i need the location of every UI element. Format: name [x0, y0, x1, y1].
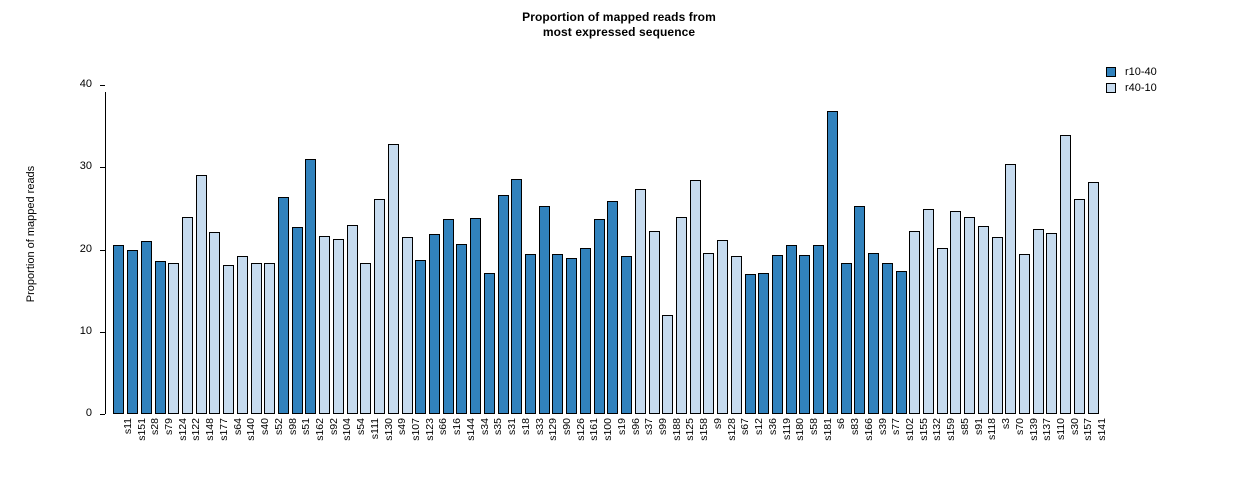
bar-genus-label: Bacteroides	[155, 357, 156, 407]
x-axis-label-s155: s155	[919, 418, 929, 441]
y-axis-tick	[100, 85, 105, 86]
bar-s28[interactable]: Bacteroides	[141, 241, 152, 414]
x-axis-label-s28: s28	[150, 418, 160, 435]
x-axis-label-s35: s35	[493, 418, 503, 435]
x-axis-label-s162: s162	[315, 418, 325, 441]
x-axis-label-s157: s157	[1083, 418, 1093, 441]
bar-s151[interactable]: Bacteroides	[127, 250, 138, 414]
x-axis-label-s119: s119	[782, 418, 792, 440]
legend-swatch-icon	[1106, 67, 1116, 77]
bar-genus-label: Bacteroides	[278, 357, 279, 407]
x-axis-label-s123: s123	[425, 418, 435, 441]
x-axis-label-s139: s139	[1029, 418, 1039, 441]
bar-s40[interactable]: Bacteroides	[251, 263, 262, 414]
x-axis-label-s161: s161	[589, 418, 599, 441]
x-axis-label-s39: s39	[878, 418, 888, 435]
bar-genus-label: Bacteroides	[443, 357, 444, 407]
bar-s36[interactable]: Faecalibacterium	[758, 273, 769, 414]
x-axis-label-s37: s37	[644, 418, 654, 435]
bar-s51[interactable]: Bacteroides	[292, 227, 303, 414]
bar-s85[interactable]: Bacteroides	[950, 211, 961, 414]
bar-s39[interactable]: Bacteroides	[868, 253, 879, 414]
bar-genus-label: Bacteroides	[635, 357, 636, 407]
bar-genus-label: Bacteroides	[360, 357, 361, 407]
bar-genus-label: Bacteroides	[745, 357, 746, 407]
x-axis-label-s31: s31	[507, 418, 517, 435]
bar-s90[interactable]: Bacteroides	[552, 254, 563, 414]
x-axis-label-s140: s140	[246, 418, 256, 441]
bar-genus-label: Bacteroides	[209, 357, 210, 407]
legend-item-label: r40-10	[1125, 83, 1157, 94]
bar-genus-label: Bacteroides	[731, 357, 732, 407]
x-axis-label-s11: s11	[123, 418, 133, 434]
x-axis-label-s110: s110	[1056, 418, 1066, 440]
bar-s11[interactable]: Bacteroides	[113, 245, 124, 414]
bar-s180[interactable]: Clostridium sensu stricto	[786, 245, 797, 414]
x-axis-label-s3: s3	[1001, 418, 1011, 429]
bar-genus-label: Ruminococcus	[882, 345, 883, 407]
x-axis-label-s77: s77	[891, 418, 901, 435]
bar-s30[interactable]: Bacteroides	[1060, 135, 1071, 414]
bar-s126[interactable]: Bacteroides	[566, 258, 577, 414]
x-axis-label-s158: s158	[699, 418, 709, 441]
bar-genus-label: Bacteroides	[305, 357, 306, 407]
x-axis-label-s79: s79	[164, 418, 174, 435]
x-axis-label-s58: s58	[809, 418, 819, 435]
x-axis-label-s51: s51	[301, 418, 311, 435]
x-axis-label-s83: s83	[850, 418, 860, 435]
bar-genus-label: Bacteroides	[333, 357, 334, 407]
bar-s161[interactable]: Streptococcus	[580, 248, 591, 414]
bar-s6[interactable]: Bacteroides	[827, 111, 838, 415]
x-axis-label-s85: s85	[960, 418, 970, 435]
x-axis-label-s137: s137	[1042, 418, 1052, 441]
x-axis-label-s151: s151	[137, 418, 147, 441]
bar-s118[interactable]: Bacteroides	[978, 226, 989, 414]
bar-s79[interactable]: Bacteroides	[155, 261, 166, 414]
bar-genus-label: Bacteroides	[909, 357, 910, 407]
x-axis-label-s118: s118	[987, 418, 997, 440]
bar-s177[interactable]: Bacteroides	[209, 232, 220, 414]
bar-genus-label: Bacteroides	[937, 357, 938, 407]
x-axis-label-s67: s67	[740, 418, 750, 435]
chart-title-line-2: most expressed sequence	[0, 25, 1238, 40]
bar-genus-label: Anaerotruncus	[662, 345, 663, 407]
x-axis-label-s181: s181	[823, 418, 833, 441]
bar-s159[interactable]: Bacteroides	[937, 248, 948, 414]
bar-s16[interactable]: Bacteroides	[443, 219, 454, 414]
bar-s162[interactable]: Bacteroides	[305, 159, 316, 414]
y-axis-tick-label: 40	[52, 78, 92, 90]
bar-s125[interactable]: Bacteroides	[676, 217, 687, 414]
x-axis-label-s19: s19	[617, 418, 627, 435]
x-axis-label-s96: s96	[631, 418, 641, 435]
bar-genus-label: Bacteroides	[854, 357, 855, 407]
x-axis-label-s126: s126	[576, 418, 586, 441]
legend-item-r10-40[interactable]: r10-40	[1106, 64, 1157, 80]
chart-legend: r10-40r40-10	[1106, 64, 1157, 96]
bar-s34[interactable]: Klebsiella	[470, 218, 481, 414]
bar-genus-label: Bacteroides	[196, 357, 197, 407]
bar-genus-label: Klebsiella	[498, 366, 499, 407]
bar-s158[interactable]: Bacteroides	[690, 180, 701, 414]
x-axis-label-s99: s99	[658, 418, 668, 435]
bar-genus-label: Bacteroides	[621, 357, 622, 407]
bar-genus-label: Bacteroides	[264, 357, 265, 407]
bar-s110[interactable]: Bacteroides	[1046, 233, 1057, 414]
y-axis-tick-label: 30	[52, 160, 92, 172]
bar-s148[interactable]: Bacteroides	[196, 175, 207, 414]
bar-s122[interactable]: Bacteroides	[182, 217, 193, 414]
x-axis-label-s66: s66	[438, 418, 448, 435]
y-axis-tick	[100, 332, 105, 333]
x-axis-label-s188: s188	[672, 418, 682, 441]
bar-s139[interactable]: Bacteroides	[1019, 254, 1030, 414]
x-axis-label-s141: s141	[1097, 418, 1107, 441]
bar-genus-label: Bacteroides	[950, 357, 951, 407]
x-axis-label-s90: s90	[562, 418, 572, 435]
x-axis-label-s54: s54	[356, 418, 366, 435]
bar-genus-label: Bacteroides	[868, 357, 869, 407]
x-axis-label-s92: s92	[329, 418, 339, 435]
y-axis-tick-label: 10	[52, 325, 92, 337]
bar-genus-label: Bacteroides	[703, 357, 704, 407]
bar-s9[interactable]: Bacteroides	[703, 253, 714, 414]
bar-genus-label: Faecalibacterium	[758, 335, 759, 407]
bar-genus-label: Bacteroides	[649, 357, 650, 407]
bar-genus-label: Bacteroides	[594, 357, 595, 407]
bar-s155[interactable]: Bacteroides	[909, 231, 920, 414]
bar-s111[interactable]: Bacteroides	[360, 263, 371, 414]
y-axis-line	[105, 92, 106, 414]
bar-s98[interactable]: Bacteroides	[278, 197, 289, 414]
x-axis-label-s144: s144	[466, 418, 476, 441]
bar-s83[interactable]: Bacteroides	[841, 263, 852, 414]
x-axis-label-s33: s33	[535, 418, 545, 435]
bar-s49[interactable]: Bacteroides	[388, 144, 399, 414]
x-axis-label-s40: s40	[260, 418, 270, 435]
x-axis-label-s107: s107	[411, 418, 421, 441]
x-axis-label-s130: s130	[384, 418, 394, 441]
bar-genus-label: Bacteroides	[127, 357, 128, 407]
plot-area: BacteroidesBacteroidesBacteroidesBactero…	[112, 85, 1100, 414]
bar-genus-label: Bacteroides	[552, 357, 553, 407]
x-axis-label-s64: s64	[233, 418, 243, 435]
bar-s35[interactable]: Bacteroides	[484, 273, 495, 414]
bar-genus-label: Bacteroides	[827, 357, 828, 407]
y-axis-tick-label: 0	[52, 407, 92, 419]
bar-genus-label: Bacteroides	[799, 357, 800, 407]
bar-s137[interactable]: Bacteroides	[1033, 229, 1044, 414]
bar-s129[interactable]: Bacteroides	[539, 206, 550, 414]
bar-genus-label: Bacteroides	[415, 357, 416, 407]
bar-genus-label: Bacteroides	[1005, 357, 1006, 407]
x-axis-label-s100: s100	[603, 418, 613, 441]
bar-s102[interactable]: Bacteroides	[896, 271, 907, 414]
x-axis-label-s128: s128	[727, 418, 737, 441]
bar-s100[interactable]: Bacteroides	[594, 219, 605, 414]
bar-s70[interactable]: Bacteroides	[1005, 164, 1016, 414]
x-axis-label-s159: s159	[946, 418, 956, 441]
y-axis-tick	[100, 414, 105, 415]
bar-s37[interactable]: Bacteroides	[635, 189, 646, 414]
bar-s123[interactable]: Bacteroides	[415, 260, 426, 414]
bar-genus-label: Bacteroides	[374, 357, 375, 407]
bar-genus-label: Bacteroides	[251, 357, 252, 407]
legend-item-label: r10-40	[1125, 67, 1157, 78]
bar-chart: Proportion of mapped reads from most exp…	[0, 0, 1238, 500]
bar-genus-label: Bacteroides	[456, 357, 457, 407]
bar-genus-label: Bacteroides	[841, 357, 842, 407]
bar-genus-label: Bacteroides	[992, 357, 993, 407]
bar-genus-label: Bacteroides	[141, 357, 142, 407]
bar-genus-label: Bacteroides	[1033, 357, 1034, 407]
bar-s19[interactable]: Bacteroides	[607, 201, 618, 414]
x-axis-label-s34: s34	[480, 418, 490, 435]
x-axis-label-s91: s91	[974, 418, 984, 435]
bar-genus-label: Bacteroides	[896, 357, 897, 407]
x-axis-label-s124: s124	[178, 418, 188, 441]
bar-genus-label: Bacteroides	[1088, 357, 1089, 407]
x-axis-label-s18: s18	[521, 418, 531, 435]
x-axis-labels: s11s151s28s79s124s122s148s177s64s140s40s…	[112, 418, 1100, 500]
bar-genus-label: Bacteroides	[182, 357, 183, 407]
x-axis-label-s16: s16	[452, 418, 462, 435]
x-axis-label-s98: s98	[288, 418, 298, 435]
bar-s66[interactable]: Bacteroides	[429, 234, 440, 414]
x-axis-label-s166: s166	[864, 418, 874, 441]
chart-title-line-1: Proportion of mapped reads from	[0, 10, 1238, 25]
bar-s92[interactable]: Bacteroides	[319, 236, 330, 414]
x-axis-label-s177: s177	[219, 418, 229, 441]
chart-title: Proportion of mapped reads from most exp…	[0, 10, 1238, 40]
bar-genus-label: Bacteroides	[168, 357, 169, 407]
x-axis-label-s125: s125	[685, 418, 695, 441]
x-axis-label-s102: s102	[905, 418, 915, 441]
bar-s64[interactable]: Bacteroides	[223, 265, 234, 414]
y-axis-tick	[100, 250, 105, 251]
bar-genus-label: Bacteroides	[676, 357, 677, 407]
bar-s181[interactable]: Bacteroides	[813, 245, 824, 414]
bar-s54[interactable]: Bacteroides	[347, 225, 358, 414]
bar-s130[interactable]: Bacteroides	[374, 199, 385, 414]
bar-genus-label: Bacteroides	[923, 357, 924, 407]
x-axis-label-s129: s129	[548, 418, 558, 441]
y-axis-tick	[100, 167, 105, 168]
bar-genus-label: Bacteroides	[319, 357, 320, 407]
bar-s77[interactable]: Ruminococcus	[882, 263, 893, 414]
bar-s107[interactable]: Bacteroides	[402, 237, 413, 414]
bar-genus-label: Bacteroides	[1046, 357, 1047, 407]
bar-genus-label: Bacteroides	[525, 357, 526, 407]
bar-s104[interactable]: Bacteroides	[333, 239, 344, 414]
x-axis-label-s9: s9	[713, 418, 723, 429]
bar-genus-label: Bacteroides	[607, 357, 608, 407]
x-axis-label-s180: s180	[795, 418, 805, 441]
bar-s124[interactable]: Bacteroides	[168, 263, 179, 414]
x-axis-label-s36: s36	[768, 418, 778, 435]
x-axis-label-s132: s132	[932, 418, 942, 441]
y-axis-title: Proportion of mapped reads	[25, 124, 37, 344]
bar-genus-label: Clostridium sensu stricto	[786, 304, 787, 407]
bar-s18[interactable]: Klebsiella	[511, 179, 522, 414]
bar-s31[interactable]: Klebsiella	[498, 195, 509, 414]
bar-s128[interactable]: Bacteroides	[717, 240, 728, 414]
bar-s67[interactable]: Bacteroides	[731, 256, 742, 414]
bar-genus-label: Bacteroides	[292, 357, 293, 407]
x-axis-label-s111: s111	[370, 418, 380, 439]
bar-genus-label: Bacteroides	[237, 357, 238, 407]
bar-genus-label: Klebsiella	[470, 366, 471, 407]
x-axis-label-s30: s30	[1070, 418, 1080, 435]
bar-genus-label: Bacteroides	[347, 357, 348, 407]
legend-swatch-icon	[1106, 83, 1116, 93]
bar-s166[interactable]: Bacteroides	[854, 206, 865, 414]
bar-genus-label: Klebsiella	[511, 366, 512, 407]
x-axis-label-s148: s148	[205, 418, 215, 441]
bar-s141[interactable]: Bacteroides	[1088, 182, 1099, 414]
bar-s3[interactable]: Bacteroides	[992, 237, 1003, 414]
bar-s188[interactable]: Anaerotruncus	[662, 315, 673, 414]
x-axis-label-s104: s104	[342, 418, 352, 441]
bar-genus-label: Bacteroides	[113, 357, 114, 407]
bar-genus-label: Bacteroides	[429, 357, 430, 407]
bar-genus-label: Bacteroides	[690, 357, 691, 407]
bar-genus-label: Bacteroides	[402, 357, 403, 407]
bar-s132[interactable]: Bacteroides	[923, 209, 934, 414]
bar-genus-label: Bacteroides	[964, 357, 965, 407]
bar-s140[interactable]: Bacteroides	[237, 256, 248, 414]
legend-item-r40-10[interactable]: r40-10	[1106, 80, 1157, 96]
bar-s144[interactable]: Bacteroides	[456, 244, 467, 414]
bar-genus-label: Bacteroides	[1060, 357, 1061, 407]
bar-genus-label: Bacteroides	[484, 357, 485, 407]
bar-genus-label: Bacteroides	[539, 357, 540, 407]
bar-s12[interactable]: Bacteroides	[745, 274, 756, 414]
bar-genus-label: Streptococcus	[580, 347, 581, 407]
bar-s99[interactable]: Bacteroides	[649, 231, 660, 414]
x-axis-label-s52: s52	[274, 418, 284, 435]
x-axis-label-s49: s49	[397, 418, 407, 435]
bar-genus-label: Bacteroides	[813, 357, 814, 407]
x-axis-label-s122: s122	[191, 418, 201, 441]
bar-s157[interactable]: Bacteroides	[1074, 199, 1085, 414]
bar-s52[interactable]: Bacteroides	[264, 263, 275, 414]
x-axis-label-s70: s70	[1015, 418, 1025, 435]
bar-genus-label: Bacteroides	[717, 357, 718, 407]
bar-genus-label: Bacteroides	[1019, 357, 1020, 407]
bar-s91[interactable]: Bacteroides	[964, 217, 975, 414]
bar-genus-label: Bacteroides	[566, 357, 567, 407]
bar-s33[interactable]: Bacteroides	[525, 254, 536, 414]
bar-genus-label: Bacteroides	[223, 357, 224, 407]
x-axis-label-s6: s6	[836, 418, 846, 429]
bar-genus-label: Clostridium sensu stricto	[772, 304, 773, 407]
x-axis-label-s12: s12	[754, 418, 764, 435]
bar-s96[interactable]: Bacteroides	[621, 256, 632, 414]
bar-genus-label: Bacteroides	[1074, 357, 1075, 407]
y-axis-tick-label: 20	[52, 243, 92, 255]
bar-genus-label: Bacteroides	[388, 357, 389, 407]
bar-s58[interactable]: Bacteroides	[799, 255, 810, 414]
bar-genus-label: Bacteroides	[978, 357, 979, 407]
bar-s119[interactable]: Clostridium sensu stricto	[772, 255, 783, 414]
